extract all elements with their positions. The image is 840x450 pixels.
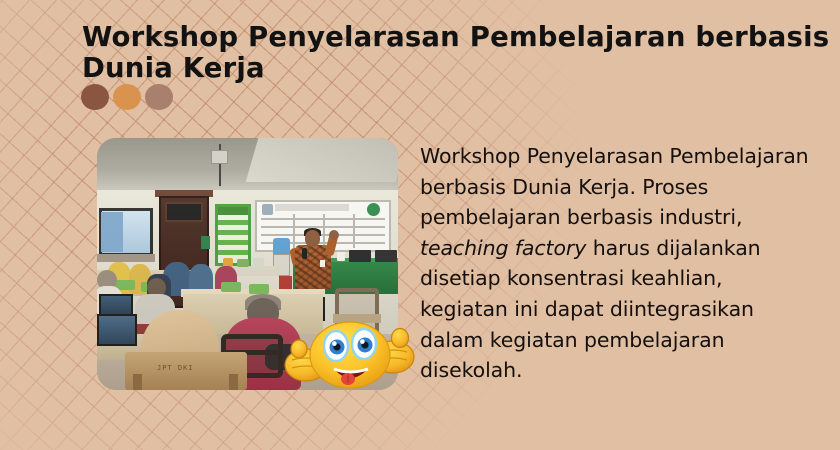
slide-canvas: Workshop Penyelarasan Pembelajaran berba… — [0, 0, 840, 450]
decorative-dots — [81, 84, 173, 110]
dot-mauve-brown — [145, 84, 173, 110]
title-line-1: Workshop Penyelarasan Pembelajaran berba… — [82, 22, 772, 53]
body-italic-term: teaching factory — [420, 236, 586, 260]
title-line-2: Dunia Kerja — [82, 53, 772, 84]
smiley-thumbs-up-icon — [284, 313, 416, 393]
dot-orange-tan — [113, 84, 141, 110]
page-title: Workshop Penyelarasan Pembelajaran berba… — [82, 22, 772, 84]
dot-dark-brown — [81, 84, 109, 110]
body-paragraph: Workshop Penyelarasan Pembelajaran berba… — [420, 141, 816, 386]
body-part-1: Workshop Penyelarasan Pembelajaran berba… — [420, 144, 809, 229]
